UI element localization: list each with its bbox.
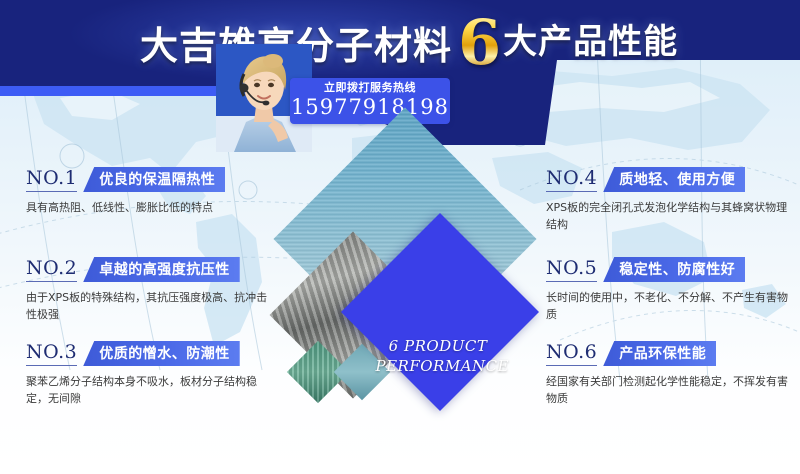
feature-1-number: NO.1 [26,168,77,192]
feature-3-number: NO.3 [26,342,77,366]
feature-4-number: NO.4 [546,168,597,192]
hotline-label: 立即拨打服务热线 [324,82,416,93]
feature-6-number: NO.6 [546,342,597,366]
feature-2-title-bar: 卓越的高强度抗压性 [83,257,240,282]
feature-2-title: 卓越的高强度抗压性 [99,263,230,277]
title-number-six: 6 [458,14,501,71]
feature-2-header: NO.2 卓越的高强度抗压性 [26,256,282,282]
feature-5-description: 长时间的使用中，不老化、不分解、不产生有害物质 [546,289,794,323]
feature-item-6: NO.6 产品环保性能 经国家有关部门检测起化学性能稳定，不挥发有害物质 [546,340,800,407]
feature-5-title: 稳定性、防腐性好 [619,263,735,277]
feature-2-number: NO.2 [26,258,77,282]
feature-3-description: 聚苯乙烯分子结构本身不吸水，板材分子结构稳定，无间隙 [26,373,274,407]
feature-1-title-bar: 优良的保温隔热性 [83,167,225,192]
feature-6-title-bar: 产品环保性能 [603,341,716,366]
feature-1-title: 优良的保温隔热性 [99,173,215,187]
feature-item-2: NO.2 卓越的高强度抗压性 由于XPS板的特殊结构，其抗压强度极高、抗冲击性极… [26,256,282,323]
feature-5-header: NO.5 稳定性、防腐性好 [546,256,800,282]
feature-5-title-bar: 稳定性、防腐性好 [603,257,745,282]
feature-1-header: NO.1 优良的保温隔热性 [26,166,282,192]
feature-3-title: 优质的憎水、防潮性 [99,347,230,361]
banner-canvas: 大吉雄高分子材料 6 大产品性能 [0,0,800,474]
hotline-box[interactable]: 立即拨打服务热线 15977918198 [290,78,450,124]
feature-4-title-bar: 质地轻、使用方便 [603,167,745,192]
feature-item-5: NO.5 稳定性、防腐性好 长时间的使用中，不老化、不分解、不产生有害物质 [546,256,800,323]
center-diamond-graphic [288,138,524,422]
hotline-number: 15977918198 [291,96,449,119]
feature-item-3: NO.3 优质的憎水、防潮性 聚苯乙烯分子结构本身不吸水，板材分子结构稳定，无间… [26,340,282,407]
feature-1-description: 具有高热阻、低线性、膨胀比低的特点 [26,199,274,216]
feature-3-title-bar: 优质的憎水、防潮性 [83,341,240,366]
feature-5-number: NO.5 [546,258,597,282]
feature-6-description: 经国家有关部门检测起化学性能稳定，不挥发有害物质 [546,373,794,407]
feature-item-1: NO.1 优良的保温隔热性 具有高热阻、低线性、膨胀比低的特点 [26,166,282,216]
feature-item-4: NO.4 质地轻、使用方便 XPS板的完全闭孔式发泡化学结构与其蜂窝状物理结构 [546,166,800,233]
feature-4-title: 质地轻、使用方便 [619,173,735,187]
feature-4-header: NO.4 质地轻、使用方便 [546,166,800,192]
title-tail: 大产品性能 [503,14,678,63]
feature-6-title: 产品环保性能 [619,347,706,361]
feature-6-header: NO.6 产品环保性能 [546,340,800,366]
feature-4-description: XPS板的完全闭孔式发泡化学结构与其蜂窝状物理结构 [546,199,794,233]
feature-3-header: NO.3 优质的憎水、防潮性 [26,340,282,366]
feature-2-description: 由于XPS板的特殊结构，其抗压强度极高、抗冲击性极强 [26,289,274,323]
